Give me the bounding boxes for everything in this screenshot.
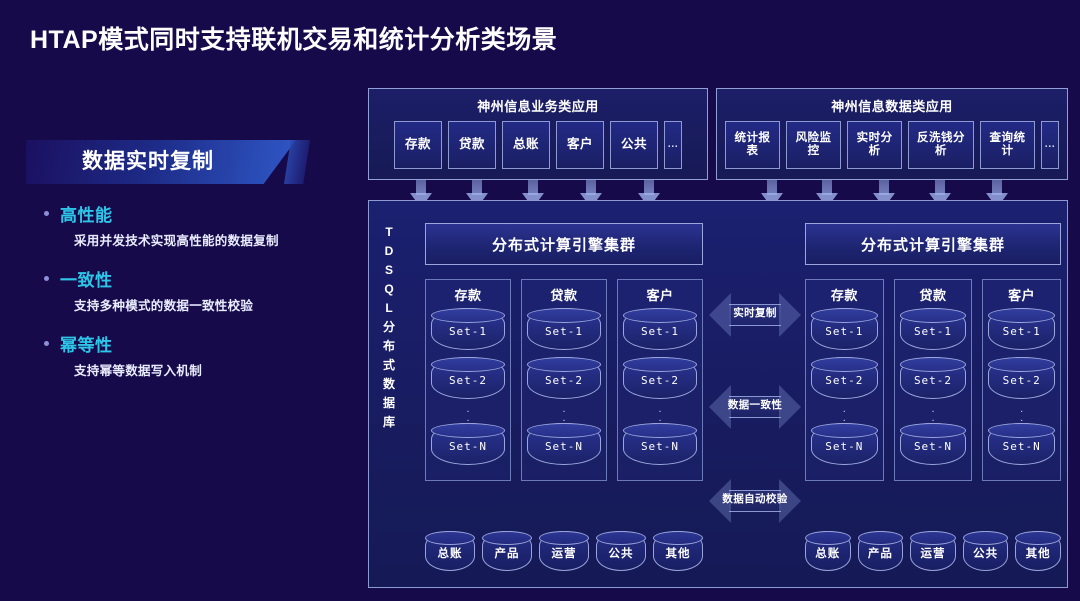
tdsql-label-char: 库 — [383, 413, 395, 432]
left-panel: 数据实时复制 高性能 采用并发技术实现高性能的数据复制 一致性 支持多种模式的数… — [0, 140, 360, 393]
tdsql-label-char: 数 — [383, 375, 395, 394]
bidirectional-arrow-icon: 实时复制 — [709, 291, 801, 339]
bottom-cylinder[interactable]: 公共 — [596, 531, 646, 571]
bottom-cylinder[interactable]: 运营 — [910, 531, 956, 571]
set-column: 存款 Set-1 Set-2 ... Set-N — [425, 279, 511, 481]
ellipsis-dots-icon: ... — [658, 405, 661, 422]
application-layer: 神州信息业务类应用 存款 贷款 总账 客户 公共 … 神州信息数据类应用 统计报… — [368, 88, 1068, 180]
app-chip-label: 反洗钱分析 — [914, 132, 968, 158]
bottom-cylinder[interactable]: 公共 — [963, 531, 1009, 571]
database-set[interactable]: Set-2 — [527, 357, 601, 399]
app-group-data: 神州信息数据类应用 统计报表 风险监控 实时分析 反洗钱分析 查询统计 … — [716, 88, 1068, 180]
compute-engine-cluster: 分布式计算引擎集群 — [805, 223, 1061, 265]
tdsql-label-char: 布 — [383, 337, 395, 356]
app-chip[interactable]: 风险监控 — [786, 121, 841, 169]
bottom-cylinder[interactable]: 总账 — [425, 531, 475, 571]
tdsql-panel: T D S Q L 分 布 式 数 据 库 分布式计算引擎集群 存款 Set-1… — [368, 200, 1068, 588]
set-column: 贷款 Set-1 Set-2 ... Set-N — [521, 279, 607, 481]
database-set[interactable]: Set-2 — [623, 357, 697, 399]
app-chip-label: 统计报表 — [731, 132, 774, 158]
ellipsis-dots-icon: ... — [466, 405, 469, 422]
list-item: 高性能 采用并发技术实现高性能的数据复制 — [44, 198, 360, 249]
app-group-title: 神州信息业务类应用 — [369, 96, 707, 115]
database-set[interactable]: Set-2 — [811, 357, 878, 399]
database-set[interactable]: Set-N — [527, 423, 601, 465]
app-chip[interactable]: 公共 — [610, 121, 658, 169]
bottom-cylinder[interactable]: 运营 — [539, 531, 589, 571]
database-set[interactable]: Set-1 — [623, 308, 697, 350]
set-column-group: 存款 Set-1 Set-2 ... Set-N 贷款 Set-1 Set-2 … — [425, 279, 703, 481]
bottom-cylinder-group: 总账 产品 运营 公共 其他 — [805, 531, 1061, 571]
tdsql-vertical-label: T D S Q L 分 布 式 数 据 库 — [379, 223, 399, 431]
app-chip[interactable]: 存款 — [394, 121, 442, 169]
set-column-group: 存款 Set-1 Set-2 ... Set-N 贷款 Set-1 Set-2 … — [805, 279, 1061, 481]
sync-arrow-label: 实时复制 — [709, 305, 801, 320]
set-column: 客户 Set-1 Set-2 ... Set-N — [982, 279, 1061, 481]
app-chip[interactable]: 实时分析 — [847, 121, 902, 169]
tdsql-label-char: Q — [384, 280, 393, 299]
tdsql-label-char: 分 — [383, 318, 395, 337]
set-column-title: 客户 — [646, 285, 673, 304]
app-group-business: 神州信息业务类应用 存款 贷款 总账 客户 公共 … — [368, 88, 708, 180]
bullet-title: 高性能 — [60, 201, 113, 226]
app-group-title: 神州信息数据类应用 — [717, 96, 1067, 115]
app-chip-label: 实时分析 — [853, 132, 896, 158]
set-column-title: 贷款 — [550, 285, 577, 304]
database-set[interactable]: Set-N — [811, 423, 878, 465]
tdsql-label-char: 式 — [383, 356, 395, 375]
set-column: 存款 Set-1 Set-2 ... Set-N — [805, 279, 884, 481]
tdsql-label-char: D — [385, 242, 394, 261]
app-chip[interactable]: 总账 — [502, 121, 550, 169]
sync-arrow-group: 实时复制 数据一致性 数据自动校验 — [709, 291, 801, 581]
sync-arrow-label: 数据一致性 — [709, 397, 801, 412]
ellipsis-dots-icon: ... — [931, 405, 934, 422]
sync-arrow-label: 数据自动校验 — [709, 491, 801, 506]
tdsql-label-char: L — [385, 299, 392, 318]
set-column: 客户 Set-1 Set-2 ... Set-N — [617, 279, 703, 481]
database-set[interactable]: Set-N — [623, 423, 697, 465]
bottom-cylinder-group: 总账 产品 运营 公共 其他 — [425, 531, 703, 571]
cluster-half-left: 分布式计算引擎集群 存款 Set-1 Set-2 ... Set-N 贷款 Se… — [419, 201, 709, 587]
bullet-title: 幂等性 — [60, 331, 113, 356]
bullet-desc: 采用并发技术实现高性能的数据复制 — [74, 230, 360, 249]
bidirectional-arrow-icon: 数据一致性 — [709, 383, 801, 431]
page-title: HTAP模式同时支持联机交易和统计分析类场景 — [30, 20, 557, 56]
set-column: 贷款 Set-1 Set-2 ... Set-N — [894, 279, 973, 481]
bullet-dot-icon — [44, 211, 49, 216]
app-chip-label: 风险监控 — [792, 132, 835, 158]
app-chip-list: 存款 贷款 总账 客户 公共 … — [369, 121, 707, 169]
bottom-cylinder[interactable]: 其他 — [653, 531, 703, 571]
bullet-dot-icon — [44, 276, 49, 281]
app-chip[interactable]: 查询统计 — [980, 121, 1035, 169]
app-chip-more[interactable]: … — [664, 121, 682, 169]
app-chip-list: 统计报表 风险监控 实时分析 反洗钱分析 查询统计 … — [717, 121, 1067, 169]
ellipsis-dots-icon: ... — [843, 405, 846, 422]
database-set[interactable]: Set-2 — [431, 357, 505, 399]
bullet-desc: 支持多种模式的数据一致性校验 — [74, 295, 360, 314]
bullet-title: 一致性 — [60, 266, 113, 291]
cluster-half-right: 分布式计算引擎集群 存款 Set-1 Set-2 ... Set-N 贷款 Se… — [799, 201, 1067, 587]
list-item: 幂等性 支持幂等数据写入机制 — [44, 328, 360, 379]
bullet-list: 高性能 采用并发技术实现高性能的数据复制 一致性 支持多种模式的数据一致性校验 … — [0, 198, 360, 379]
database-set[interactable]: Set-1 — [527, 308, 601, 350]
tdsql-label-char: 据 — [383, 394, 395, 413]
database-set[interactable]: Set-1 — [988, 308, 1055, 350]
list-item: 一致性 支持多种模式的数据一致性校验 — [44, 263, 360, 314]
database-set[interactable]: Set-2 — [900, 357, 967, 399]
app-chip[interactable]: 反洗钱分析 — [908, 121, 974, 169]
database-set[interactable]: Set-1 — [811, 308, 878, 350]
banner-label: 数据实时复制 — [82, 140, 214, 184]
set-column-title: 存款 — [831, 285, 858, 304]
compute-engine-cluster: 分布式计算引擎集群 — [425, 223, 703, 265]
database-set[interactable]: Set-N — [900, 423, 967, 465]
set-column-title: 客户 — [1008, 285, 1035, 304]
set-column-title: 贷款 — [920, 285, 947, 304]
ellipsis-dots-icon: ... — [562, 405, 565, 422]
database-set[interactable]: Set-1 — [900, 308, 967, 350]
architecture-diagram: 神州信息业务类应用 存款 贷款 总账 客户 公共 … 神州信息数据类应用 统计报… — [368, 88, 1068, 588]
app-chip[interactable]: 客户 — [556, 121, 604, 169]
tdsql-label-char: T — [385, 223, 392, 242]
tdsql-label-char: S — [385, 261, 393, 280]
database-set[interactable]: Set-N — [431, 423, 505, 465]
database-set[interactable]: Set-1 — [431, 308, 505, 350]
bottom-cylinder[interactable]: 产品 — [482, 531, 532, 571]
section-banner: 数据实时复制 — [26, 140, 296, 184]
bidirectional-arrow-icon: 数据自动校验 — [709, 477, 801, 525]
set-column-title: 存款 — [454, 285, 481, 304]
bullet-desc: 支持幂等数据写入机制 — [74, 360, 360, 379]
bottom-cylinder[interactable]: 总账 — [805, 531, 851, 571]
app-chip-more[interactable]: … — [1041, 121, 1059, 169]
database-set[interactable]: Set-2 — [988, 357, 1055, 399]
ellipsis-dots-icon: ... — [1020, 405, 1023, 422]
bullet-dot-icon — [44, 341, 49, 346]
database-set[interactable]: Set-N — [988, 423, 1055, 465]
app-chip[interactable]: 贷款 — [448, 121, 496, 169]
app-chip[interactable]: 统计报表 — [725, 121, 780, 169]
bottom-cylinder[interactable]: 产品 — [858, 531, 904, 571]
app-chip-label: 查询统计 — [986, 132, 1029, 158]
bottom-cylinder[interactable]: 其他 — [1015, 531, 1061, 571]
